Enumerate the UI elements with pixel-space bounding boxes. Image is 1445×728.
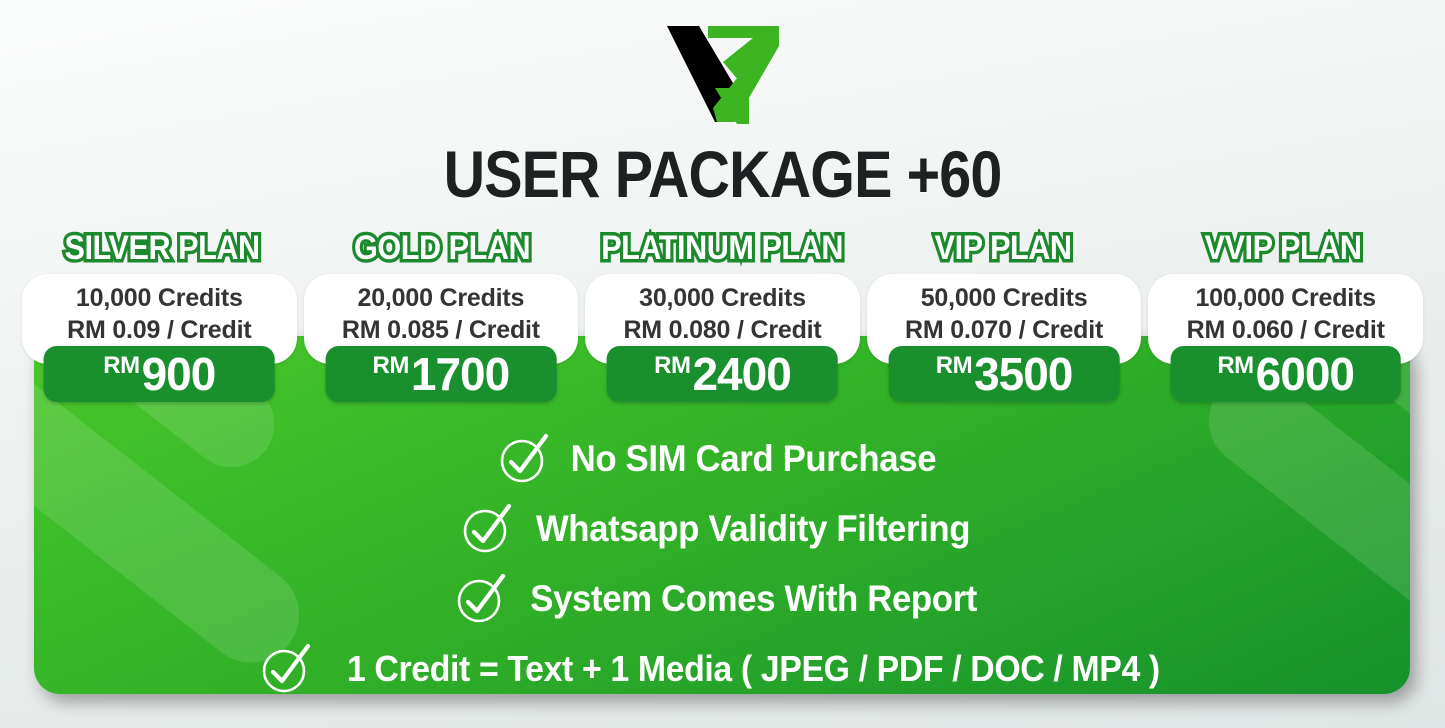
- plan-credits: 50,000 Credits: [867, 284, 1142, 313]
- page-title: USER PACKAGE +60: [94, 136, 1351, 212]
- check-circle-icon: [454, 573, 506, 625]
- plan-heading-gold: GOLD PLAN: [316, 224, 568, 274]
- plan-price-badge[interactable]: RM 2400: [607, 346, 838, 402]
- logo-area: [0, 16, 1445, 128]
- plan-rate: RM 0.070 / Credit: [867, 316, 1142, 345]
- feature-item: System Comes With Report: [0, 564, 1445, 634]
- plan-price-badge[interactable]: RM 1700: [326, 346, 557, 402]
- plan-price-badge[interactable]: RM 3500: [889, 346, 1120, 402]
- feature-label: No SIM Card Purchase: [571, 438, 937, 480]
- feature-label: System Comes With Report: [530, 578, 977, 620]
- plan-rate: RM 0.085 / Credit: [304, 316, 579, 345]
- price-currency: RM: [1217, 352, 1253, 380]
- price-currency: RM: [373, 352, 409, 380]
- check-circle-icon: [460, 503, 512, 555]
- feature-label: Whatsapp Validity Filtering: [536, 508, 970, 550]
- feature-item: 1 Credit = Text + 1 Media ( JPEG / PDF /…: [0, 634, 1445, 704]
- plan-card-gold[interactable]: 20,000 Credits RM 0.085 / Credit RM 1700: [304, 274, 579, 410]
- price-amount: 3500: [974, 348, 1072, 400]
- price-amount: 6000: [1256, 348, 1354, 400]
- feature-item: Whatsapp Validity Filtering: [0, 494, 1445, 564]
- plan-rate: RM 0.09 / Credit: [22, 316, 297, 345]
- check-circle-icon: [259, 643, 311, 695]
- plan-card-platinum[interactable]: 30,000 Credits RM 0.080 / Credit RM 2400: [585, 274, 860, 410]
- feature-label: 1 Credit = Text + 1 Media ( JPEG / PDF /…: [347, 648, 1160, 690]
- price-currency: RM: [654, 352, 690, 380]
- price-currency: RM: [103, 352, 139, 380]
- plan-heading-vip: VIP PLAN: [877, 224, 1129, 274]
- plan-headings: SILVER PLAN GOLD PLAN PLATINUM PLAN VIP …: [22, 224, 1423, 274]
- plan-rate: RM 0.060 / Credit: [1148, 316, 1423, 345]
- plan-price-badge[interactable]: RM 900: [44, 346, 275, 402]
- plan-cards: 10,000 Credits RM 0.09 / Credit RM 900 2…: [22, 274, 1423, 410]
- v3-logo: [653, 16, 793, 128]
- feature-item: No SIM Card Purchase: [0, 424, 1445, 494]
- price-amount: 900: [142, 348, 216, 400]
- plan-heading-vvip: VVIP PLAN: [1157, 224, 1409, 274]
- plan-price-badge[interactable]: RM 6000: [1170, 346, 1401, 402]
- price-amount: 2400: [692, 348, 790, 400]
- plan-credits: 100,000 Credits: [1148, 284, 1423, 313]
- price-amount: 1700: [411, 348, 509, 400]
- plan-rate: RM 0.080 / Credit: [585, 316, 860, 345]
- plan-card-vvip[interactable]: 100,000 Credits RM 0.060 / Credit RM 600…: [1148, 274, 1423, 410]
- plan-credits: 30,000 Credits: [585, 284, 860, 313]
- plan-heading-silver: SILVER PLAN: [36, 224, 288, 274]
- feature-list: No SIM Card Purchase Whatsapp Validity F…: [0, 424, 1445, 704]
- plan-heading-platinum: PLATINUM PLAN: [596, 224, 848, 274]
- plan-card-vip[interactable]: 50,000 Credits RM 0.070 / Credit RM 3500: [867, 274, 1142, 410]
- plan-credits: 10,000 Credits: [22, 284, 297, 313]
- price-currency: RM: [936, 352, 972, 380]
- plan-credits: 20,000 Credits: [304, 284, 579, 313]
- plan-card-silver[interactable]: 10,000 Credits RM 0.09 / Credit RM 900: [22, 274, 297, 410]
- check-circle-icon: [497, 433, 549, 485]
